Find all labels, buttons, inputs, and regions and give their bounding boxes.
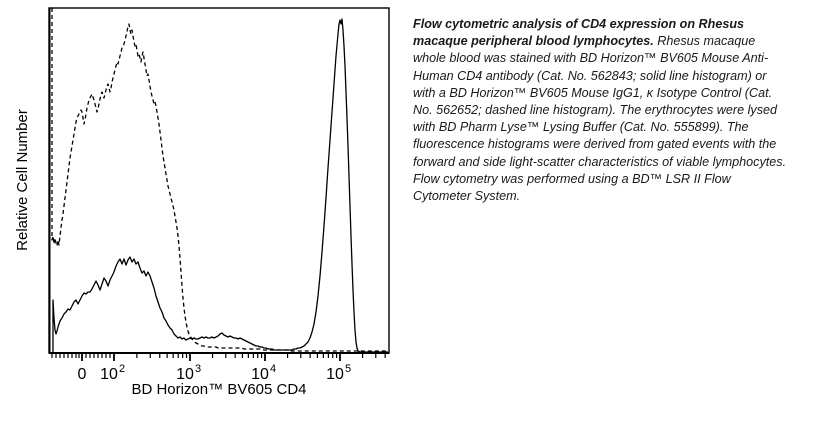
x-tick-label: 10 (326, 366, 344, 383)
histogram-plot: 0102103104105 BD Horizon™ BV605 CD4 Rela… (0, 0, 410, 429)
caption-body: Rhesus macaque whole blood was stained w… (413, 34, 786, 203)
x-axis-tick-labels: 0102103104105 (78, 363, 352, 383)
x-tick-label-exponent: 2 (119, 363, 125, 375)
flow-cytometry-figure: 0102103104105 BD Horizon™ BV605 CD4 Rela… (0, 0, 410, 429)
x-tick-label-exponent: 4 (270, 363, 276, 375)
plot-frame (49, 8, 389, 353)
x-tick-label: 10 (100, 366, 118, 383)
x-axis-label: BD Horizon™ BV605 CD4 (131, 381, 306, 398)
x-tick-label-exponent: 5 (345, 363, 351, 375)
x-axis-ticks (52, 353, 385, 361)
caption-block: Flow cytometric analysis of CD4 expressi… (413, 16, 789, 205)
x-tick-label: 0 (78, 366, 87, 383)
figure-page: 0102103104105 BD Horizon™ BV605 CD4 Rela… (0, 0, 814, 429)
x-tick-label-exponent: 3 (195, 363, 201, 375)
caption-paragraph: Flow cytometric analysis of CD4 expressi… (413, 16, 789, 205)
y-axis-label: Relative Cell Number (14, 109, 31, 251)
